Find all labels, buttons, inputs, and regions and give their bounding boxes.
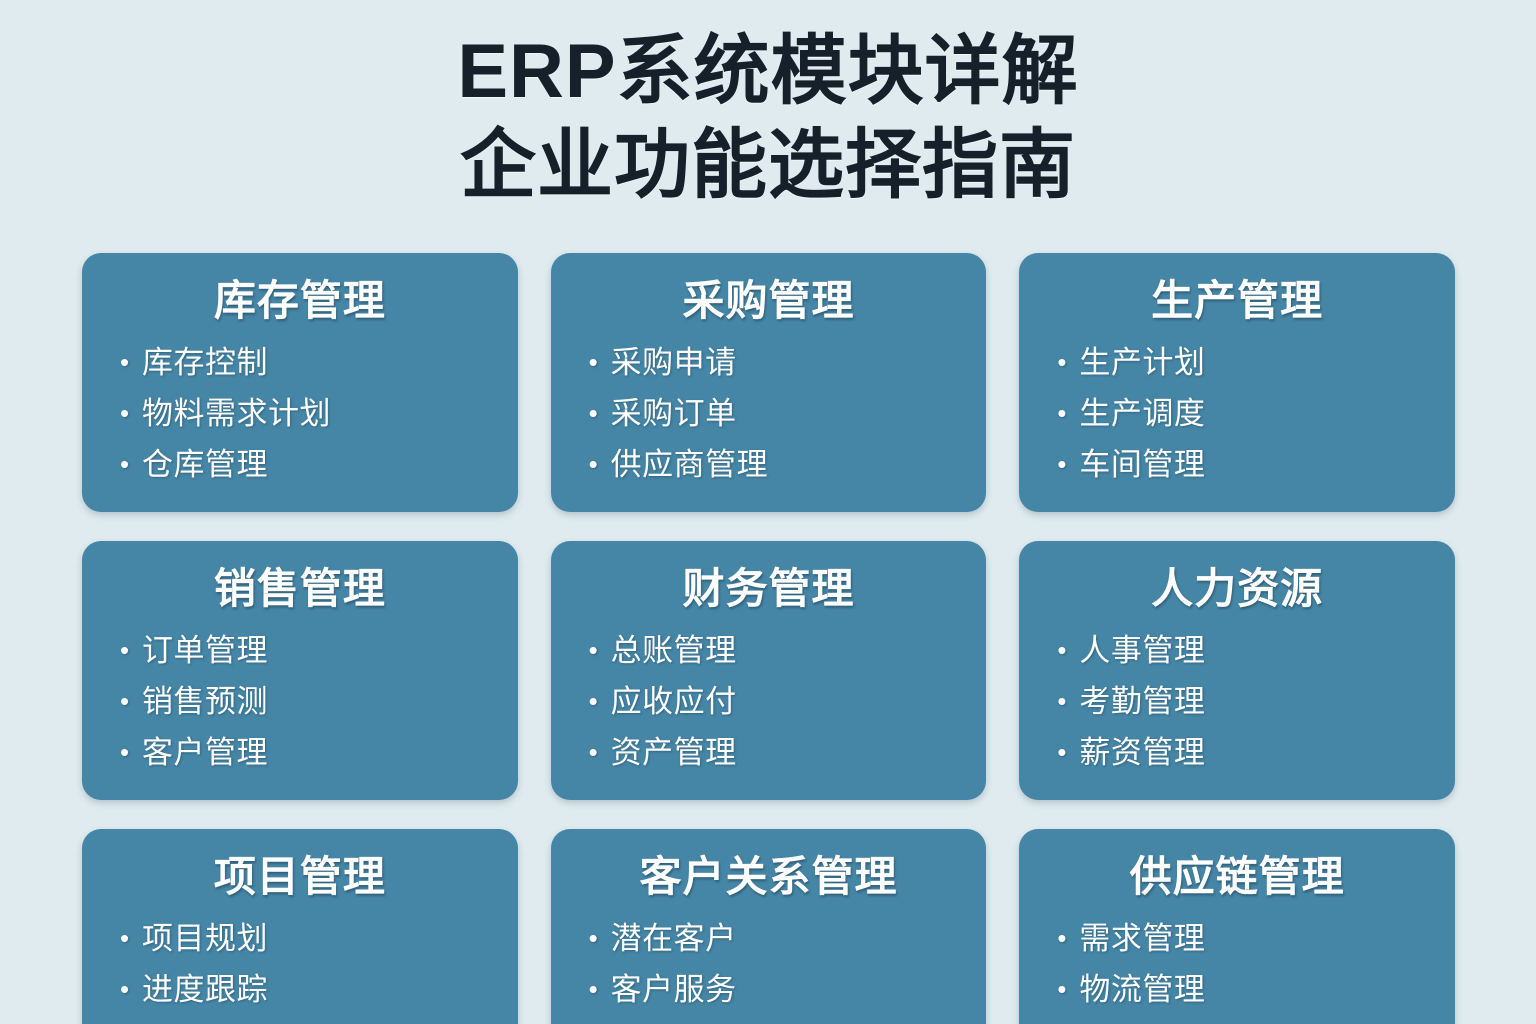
module-feature-item[interactable]: •生产计划 xyxy=(1079,337,1429,388)
module-feature-label: 考勤管理 xyxy=(1079,684,1205,719)
module-feature-label: 物料需求计划 xyxy=(142,396,331,431)
erp-modules-poster: ERP系统模块详解 企业功能选择指南 库存管理•库存控制•物料需求计划•仓库管理… xyxy=(0,0,1536,1024)
module-feature-item[interactable]: •总账管理 xyxy=(611,625,961,676)
bullet-icon: • xyxy=(120,676,129,727)
module-card-title: 项目管理 xyxy=(108,851,492,903)
bullet-icon: • xyxy=(589,964,598,1015)
module-feature-item[interactable]: •库存控制 xyxy=(142,337,492,388)
module-feature-item[interactable]: •销售预测 xyxy=(142,676,492,727)
bullet-icon: • xyxy=(589,727,598,778)
module-feature-item[interactable]: •物料需求计划 xyxy=(142,388,492,439)
bullet-icon: • xyxy=(589,337,598,388)
bullet-icon: • xyxy=(120,913,129,964)
bullet-icon: • xyxy=(120,727,129,778)
module-card[interactable]: 客户关系管理•潜在客户•客户服务•客户营销 xyxy=(551,829,987,1024)
module-feature-list: •总账管理•应收应付•资产管理 xyxy=(577,625,961,778)
module-feature-label: 总账管理 xyxy=(611,633,737,668)
module-feature-label: 客户服务 xyxy=(611,972,737,1007)
module-card[interactable]: 财务管理•总账管理•应收应付•资产管理 xyxy=(551,541,987,800)
bullet-icon: • xyxy=(1057,625,1066,676)
module-card-grid: 库存管理•库存控制•物料需求计划•仓库管理采购管理•采购申请•采购订单•供应商管… xyxy=(82,253,1455,1024)
module-feature-item[interactable]: •资产管理 xyxy=(611,727,961,778)
module-feature-item[interactable]: •潜在客户 xyxy=(611,913,961,964)
module-card[interactable]: 销售管理•订单管理•销售预测•客户管理 xyxy=(82,541,518,800)
module-feature-label: 人事管理 xyxy=(1079,633,1205,668)
module-feature-item[interactable]: •项目规划 xyxy=(142,913,492,964)
module-card-title: 库存管理 xyxy=(108,275,492,327)
module-card-title: 生产管理 xyxy=(1045,275,1429,327)
bullet-icon: • xyxy=(589,1015,598,1024)
bullet-icon: • xyxy=(1057,388,1066,439)
module-feature-item[interactable]: •供应商管理 xyxy=(611,439,961,490)
bullet-icon: • xyxy=(589,439,598,490)
module-feature-item[interactable]: •客户营销 xyxy=(611,1015,961,1024)
module-feature-item[interactable]: •应收应付 xyxy=(611,676,961,727)
bullet-icon: • xyxy=(589,676,598,727)
module-feature-label: 生产调度 xyxy=(1079,396,1205,431)
module-feature-list: •需求管理•物流管理•库存分析 xyxy=(1045,913,1429,1024)
module-feature-item[interactable]: •订单管理 xyxy=(142,625,492,676)
bullet-icon: • xyxy=(120,439,129,490)
module-card-title: 采购管理 xyxy=(577,275,961,327)
module-feature-label: 资产管理 xyxy=(611,735,737,770)
page-title-line-1: ERP系统模块详解 xyxy=(0,26,1536,118)
bullet-icon: • xyxy=(1057,913,1066,964)
module-feature-label: 销售预测 xyxy=(142,684,268,719)
bullet-icon: • xyxy=(1057,727,1066,778)
module-feature-label: 订单管理 xyxy=(142,633,268,668)
module-feature-label: 物流管理 xyxy=(1079,972,1205,1007)
module-feature-list: •项目规划•进度跟踪•资源分配 xyxy=(108,913,492,1024)
bullet-icon: • xyxy=(1057,1015,1066,1024)
module-card[interactable]: 生产管理•生产计划•生产调度•车间管理 xyxy=(1019,253,1455,512)
page-title-line-2: 企业功能选择指南 xyxy=(0,120,1536,212)
module-feature-label: 需求管理 xyxy=(1079,921,1205,956)
bullet-icon: • xyxy=(589,388,598,439)
bullet-icon: • xyxy=(1057,439,1066,490)
module-card[interactable]: 库存管理•库存控制•物料需求计划•仓库管理 xyxy=(82,253,518,512)
bullet-icon: • xyxy=(120,388,129,439)
module-card[interactable]: 人力资源•人事管理•考勤管理•薪资管理 xyxy=(1019,541,1455,800)
module-feature-list: •订单管理•销售预测•客户管理 xyxy=(108,625,492,778)
module-feature-label: 进度跟踪 xyxy=(142,972,268,1007)
module-feature-item[interactable]: •进度跟踪 xyxy=(142,964,492,1015)
module-feature-label: 供应商管理 xyxy=(611,447,769,482)
module-feature-item[interactable]: •人事管理 xyxy=(1079,625,1429,676)
bullet-icon: • xyxy=(1057,337,1066,388)
bullet-icon: • xyxy=(120,625,129,676)
module-feature-item[interactable]: •采购申请 xyxy=(611,337,961,388)
module-feature-label: 采购订单 xyxy=(611,396,737,431)
bullet-icon: • xyxy=(589,625,598,676)
bullet-icon: • xyxy=(589,913,598,964)
bullet-icon: • xyxy=(120,1015,129,1024)
module-card[interactable]: 采购管理•采购申请•采购订单•供应商管理 xyxy=(551,253,987,512)
module-feature-item[interactable]: •生产调度 xyxy=(1079,388,1429,439)
module-feature-item[interactable]: •资源分配 xyxy=(142,1015,492,1024)
module-feature-item[interactable]: •客户服务 xyxy=(611,964,961,1015)
module-feature-label: 薪资管理 xyxy=(1079,735,1205,770)
module-card-title: 客户关系管理 xyxy=(577,851,961,903)
bullet-icon: • xyxy=(120,337,129,388)
module-feature-item[interactable]: •薪资管理 xyxy=(1079,727,1429,778)
module-card-title: 供应链管理 xyxy=(1045,851,1429,903)
module-feature-list: •潜在客户•客户服务•客户营销 xyxy=(577,913,961,1024)
module-feature-label: 采购申请 xyxy=(611,345,737,380)
bullet-icon: • xyxy=(120,964,129,1015)
page-title: ERP系统模块详解 企业功能选择指南 xyxy=(0,0,1536,212)
module-feature-item[interactable]: •采购订单 xyxy=(611,388,961,439)
module-card[interactable]: 供应链管理•需求管理•物流管理•库存分析 xyxy=(1019,829,1455,1024)
module-feature-label: 库存控制 xyxy=(142,345,268,380)
module-feature-label: 车间管理 xyxy=(1079,447,1205,482)
module-feature-label: 生产计划 xyxy=(1079,345,1205,380)
module-feature-list: •生产计划•生产调度•车间管理 xyxy=(1045,337,1429,490)
module-feature-item[interactable]: •车间管理 xyxy=(1079,439,1429,490)
module-feature-item[interactable]: •库存分析 xyxy=(1079,1015,1429,1024)
module-feature-label: 客户管理 xyxy=(142,735,268,770)
module-feature-item[interactable]: •客户管理 xyxy=(142,727,492,778)
module-feature-list: •采购申请•采购订单•供应商管理 xyxy=(577,337,961,490)
bullet-icon: • xyxy=(1057,964,1066,1015)
module-feature-label: 仓库管理 xyxy=(142,447,268,482)
module-card[interactable]: 项目管理•项目规划•进度跟踪•资源分配 xyxy=(82,829,518,1024)
module-card-title: 销售管理 xyxy=(108,563,492,615)
module-feature-item[interactable]: •仓库管理 xyxy=(142,439,492,490)
module-card-title: 人力资源 xyxy=(1045,563,1429,615)
module-feature-item[interactable]: •物流管理 xyxy=(1079,964,1429,1015)
module-feature-label: 应收应付 xyxy=(611,684,737,719)
bullet-icon: • xyxy=(1057,676,1066,727)
module-feature-item[interactable]: •需求管理 xyxy=(1079,913,1429,964)
module-card-title: 财务管理 xyxy=(577,563,961,615)
module-feature-list: •库存控制•物料需求计划•仓库管理 xyxy=(108,337,492,490)
module-feature-list: •人事管理•考勤管理•薪资管理 xyxy=(1045,625,1429,778)
module-feature-label: 项目规划 xyxy=(142,921,268,956)
module-feature-label: 潜在客户 xyxy=(611,921,737,956)
module-feature-item[interactable]: •考勤管理 xyxy=(1079,676,1429,727)
